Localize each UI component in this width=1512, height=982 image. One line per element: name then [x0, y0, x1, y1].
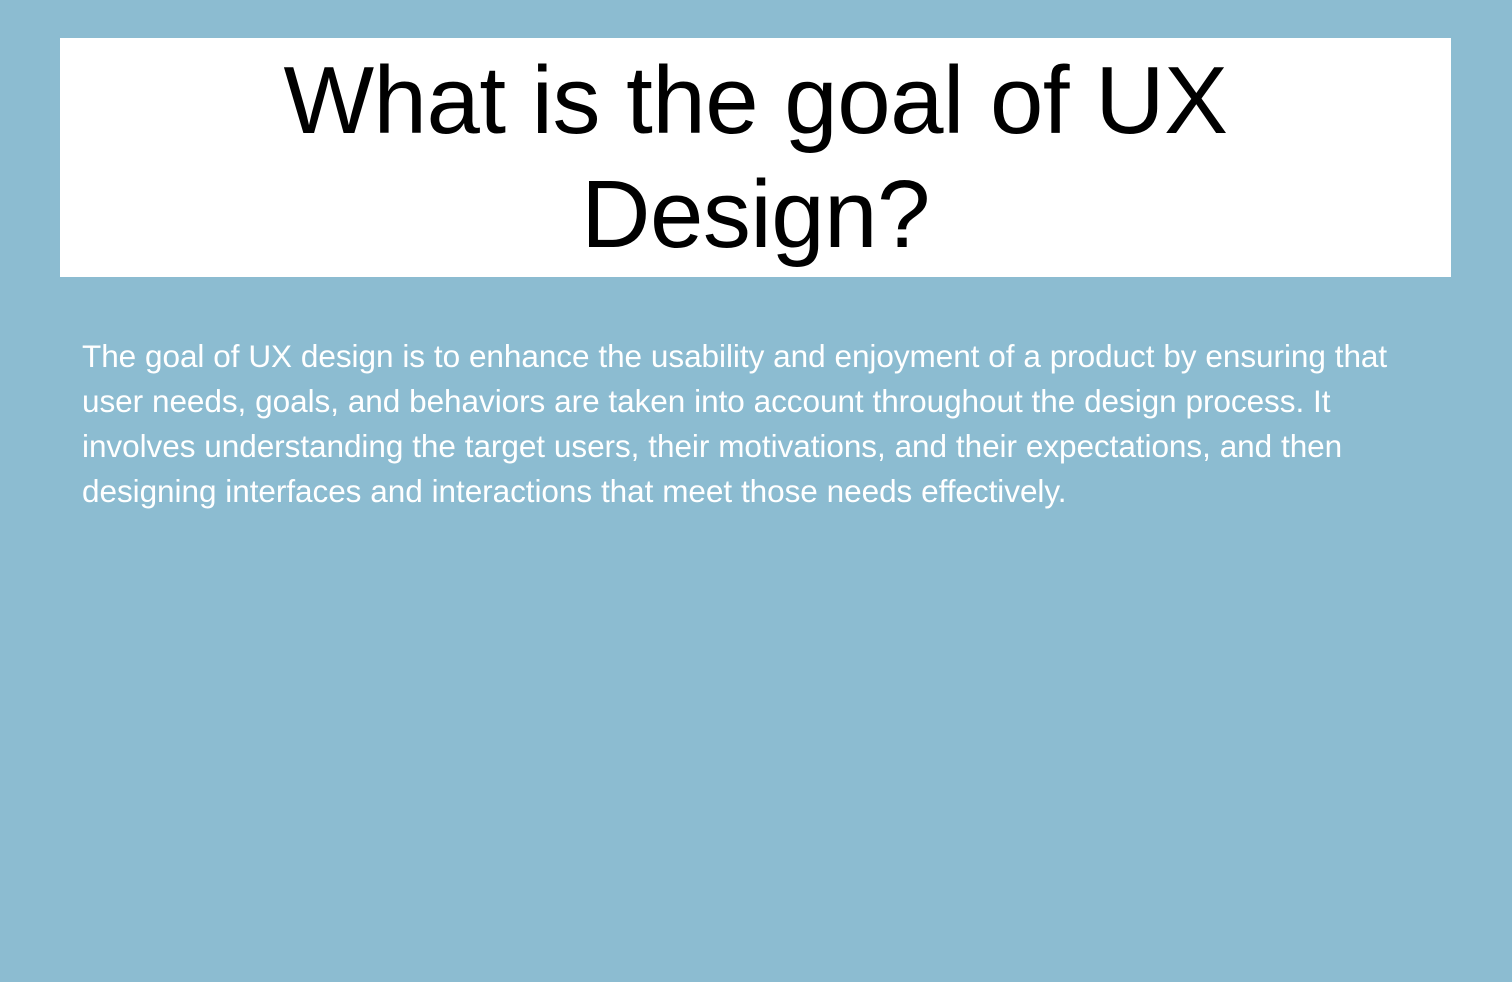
body-text-block: The goal of UX design is to enhance the …	[82, 334, 1450, 514]
page-title: What is the goal of UX Design?	[256, 44, 1256, 272]
title-card: What is the goal of UX Design?	[60, 38, 1451, 277]
body-paragraph: The goal of UX design is to enhance the …	[82, 334, 1450, 514]
slide-canvas: What is the goal of UX Design? The goal …	[0, 0, 1512, 982]
